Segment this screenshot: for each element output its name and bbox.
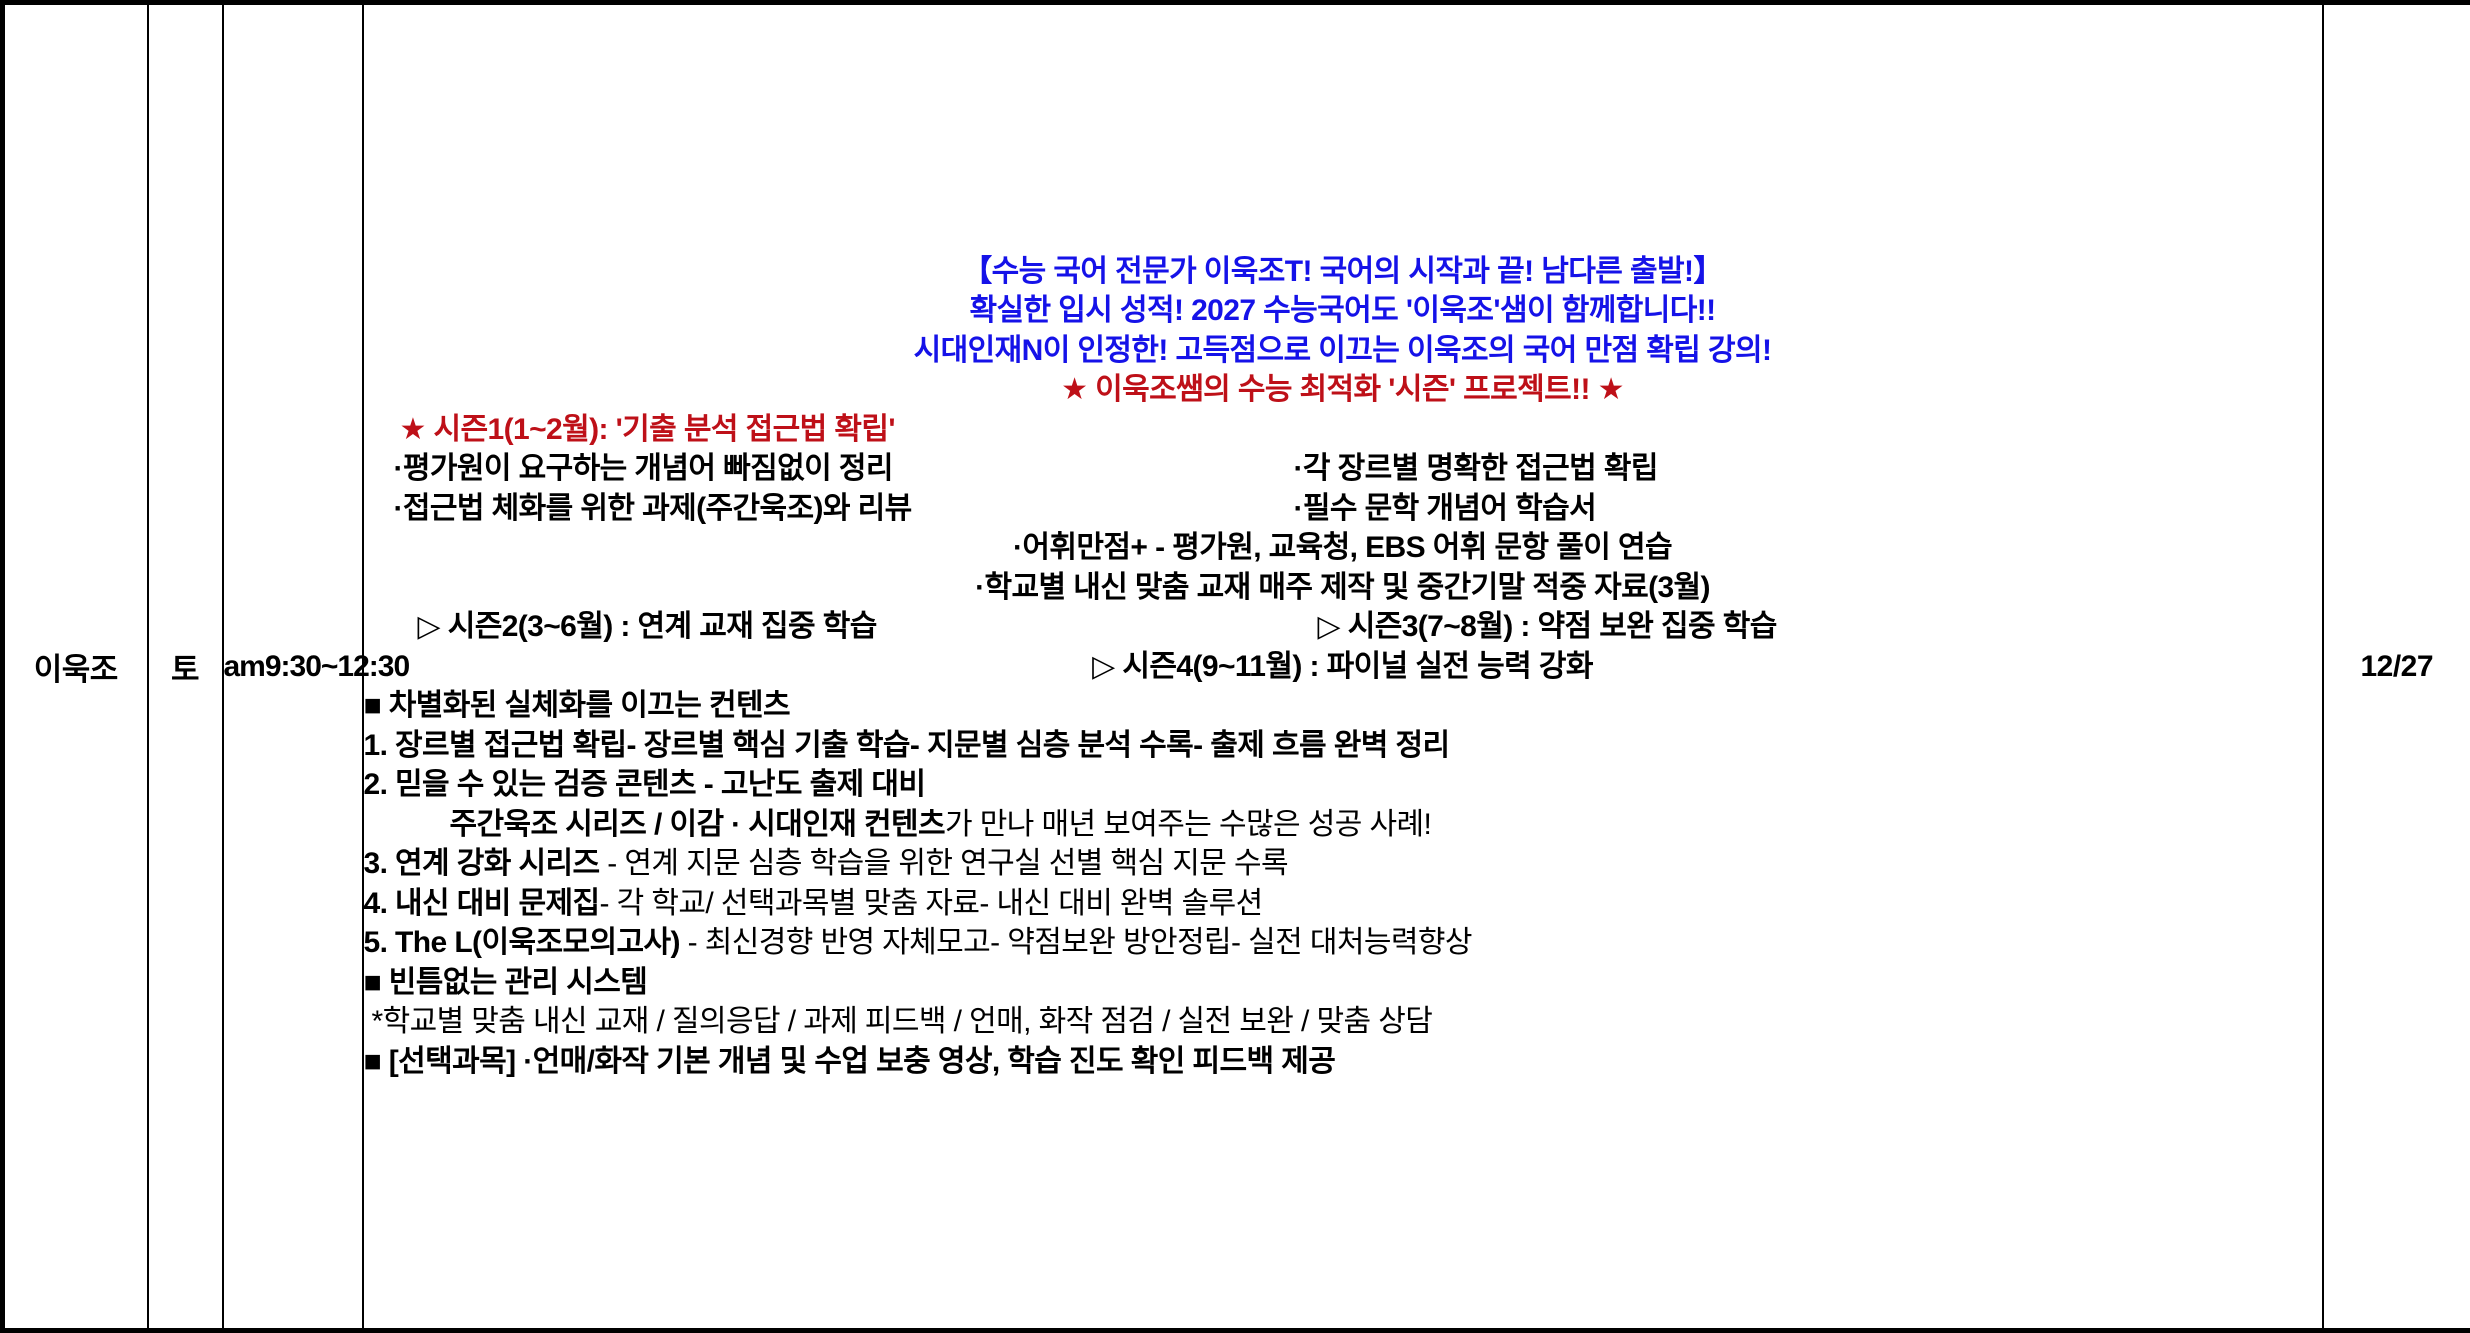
headline-2: 확실한 입시 성적! 2027 수능국어도 '이욱조'샘이 함께합니다!! xyxy=(364,291,2322,331)
content-item-4-bold: 4. 내신 대비 문제집 xyxy=(364,887,600,920)
day-of-week-cell: 토 xyxy=(148,3,223,1331)
content-item-3: 3. 연계 강화 시리즈 - 연계 지문 심층 학습을 위한 연구실 선별 핵심… xyxy=(364,844,2322,884)
elective-description: ·언매/화작 기본 개념 및 수업 보충 영상, 학습 진도 확인 피드백 제공 xyxy=(516,1045,1336,1078)
season1-line-1: ·어휘만점+ - 평가원, 교육청, EBS 어휘 문항 풀이 연습 xyxy=(364,528,2322,568)
content-item-4: 4. 내신 대비 문제집- 각 학교/ 선택과목별 맞춤 자료- 내신 대비 완… xyxy=(364,884,2322,924)
course-detail-cell: 【수능 국어 전문가 이욱조T! 국어의 시작과 끝! 남다른 출발!】 확실한… xyxy=(363,3,2323,1331)
season1-bullet-1-right: ·각 장르별 명확한 접근법 확립 xyxy=(1294,449,1658,489)
content-item-1: 1. 장르별 접근법 확립- 장르별 핵심 기출 학습- 지문별 심층 분석 수… xyxy=(364,726,2322,766)
season1-title: ★ 시즌1(1~2월): '기출 분석 접근법 확립' xyxy=(364,410,2322,450)
contents-header: ■ 차별화된 실체화를 이끄는 컨텐츠 xyxy=(364,686,2322,726)
season2-season3-row: ▷ 시즌2(3~6월) : 연계 교재 집중 학습 ▷ 시즌3(7~8월) : … xyxy=(364,607,2322,647)
content-item-2-sub-regular: 가 만나 매년 보여주는 수많은 성공 사례! xyxy=(945,808,1431,841)
content-item-2-subline: 주간욱조 시리즈 / 이감 · 시대인재 컨텐츠가 만나 매년 보여주는 수많은… xyxy=(364,805,2322,845)
season4-text: ▷ 시즌4(9~11월) : 파이널 실전 능력 강화 xyxy=(364,647,2322,687)
content-item-5-regular: - 최신경향 반영 자체모고- 약점보완 방안정립- 실전 대처능력향상 xyxy=(680,926,1472,959)
elective-line: ■ [선택과목] ·언매/화작 기본 개념 및 수업 보충 영상, 학습 진도 … xyxy=(364,1042,2322,1082)
content-item-5: 5. The L(이욱조모의고사) - 최신경향 반영 자체모고- 약점보완 방… xyxy=(364,923,2322,963)
table-row: 이욱조 토 am9:30~12:30 【수능 국어 전문가 이욱조T! 국어의 … xyxy=(3,3,2470,1331)
teacher-name-cell: 이욱조 xyxy=(3,3,148,1331)
elective-label: ■ [선택과목] xyxy=(364,1045,516,1078)
management-header: ■ 빈틈없는 관리 시스템 xyxy=(364,963,2322,1003)
content-item-3-regular: - 연계 지문 심층 학습을 위한 연구실 선별 핵심 지문 수록 xyxy=(600,847,1288,880)
headline-1: 【수능 국어 전문가 이욱조T! 국어의 시작과 끝! 남다른 출발!】 xyxy=(364,252,2322,292)
content-item-3-bold: 3. 연계 강화 시리즈 xyxy=(364,847,600,880)
season2-text: ▷ 시즌2(3~6월) : 연계 교재 집중 학습 xyxy=(364,607,1318,647)
season3-text: ▷ 시즌3(7~8월) : 약점 보완 집중 학습 xyxy=(1318,607,1777,647)
headline-3: 시대인재N이 인정한! 고득점으로 이끄는 이욱조의 국어 만점 확립 강의! xyxy=(364,331,2322,371)
content-item-5-bold: 5. The L(이욱조모의고사) xyxy=(364,926,680,959)
season1-bullet-row-2: ·접근법 체화를 위한 과제(주간욱조)와 리뷰 ·필수 문학 개념어 학습서 xyxy=(364,489,2322,529)
project-title: ★ 이욱조쌤의 수능 최적화 '시즌' 프로젝트!! ★ xyxy=(364,370,2322,410)
season1-bullet-row-1: ·평가원이 요구하는 개념어 빠짐없이 정리 ·각 장르별 명확한 접근법 확립 xyxy=(364,449,2322,489)
content-item-2: 2. 믿을 수 있는 검증 콘텐츠 - 고난도 출제 대비 xyxy=(364,765,2322,805)
management-line: *학교별 맞춤 내신 교재 / 질의응답 / 과제 피드백 / 언매, 화작 점… xyxy=(364,1002,2322,1042)
content-item-2-sub-bold: 주간욱조 시리즈 / 이감 · 시대인재 컨텐츠 xyxy=(450,808,946,841)
content-item-1-bold: 1. 장르별 접근법 확립- 장르별 핵심 기출 학습- 지문별 심층 분석 수… xyxy=(364,729,1450,762)
start-date-cell: 12/27 xyxy=(2323,3,2470,1331)
class-time-cell: am9:30~12:30 xyxy=(223,3,363,1331)
class-schedule-table: 이욱조 토 am9:30~12:30 【수능 국어 전문가 이욱조T! 국어의 … xyxy=(0,0,2470,1333)
content-item-2-bold: 2. 믿을 수 있는 검증 콘텐츠 - 고난도 출제 대비 xyxy=(364,768,926,801)
season1-bullet-2-right: ·필수 문학 개념어 학습서 xyxy=(1294,489,1597,529)
season1-bullet-2-left: ·접근법 체화를 위한 과제(주간욱조)와 리뷰 xyxy=(364,489,1294,529)
season1-line-2: ·학교별 내신 맞춤 교재 매주 제작 및 중간기말 적중 자료(3월) xyxy=(364,568,2322,608)
content-item-4-regular: - 각 학교/ 선택과목별 맞춤 자료- 내신 대비 완벽 솔루션 xyxy=(600,887,1263,920)
season1-bullet-1-left: ·평가원이 요구하는 개념어 빠짐없이 정리 xyxy=(364,449,1294,489)
